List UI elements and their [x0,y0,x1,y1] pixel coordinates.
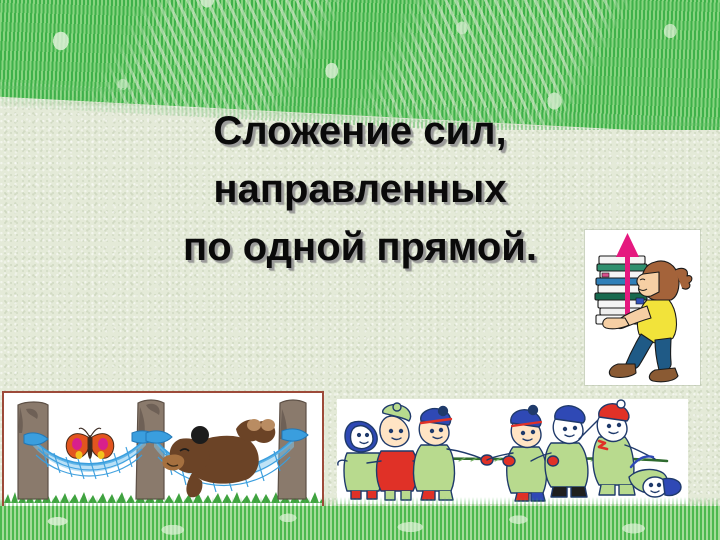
bottom-banner [0,506,720,540]
slide-canvas: Сложение сил, направленных по одной прям… [0,0,720,540]
title-line-2: направленных [60,160,660,218]
title-line-3: по одной прямой. [60,218,660,276]
image-bear-butterfly-hammocks [2,391,324,509]
bottom-banner-blob-pattern [0,506,720,540]
image-children-tug-of-war [337,399,688,504]
tugofwar-illustration-svg [337,399,688,504]
page-title: Сложение сил, направленных по одной прям… [60,102,660,276]
hammock-illustration-svg [4,393,322,507]
title-line-1: Сложение сил, [60,102,660,160]
